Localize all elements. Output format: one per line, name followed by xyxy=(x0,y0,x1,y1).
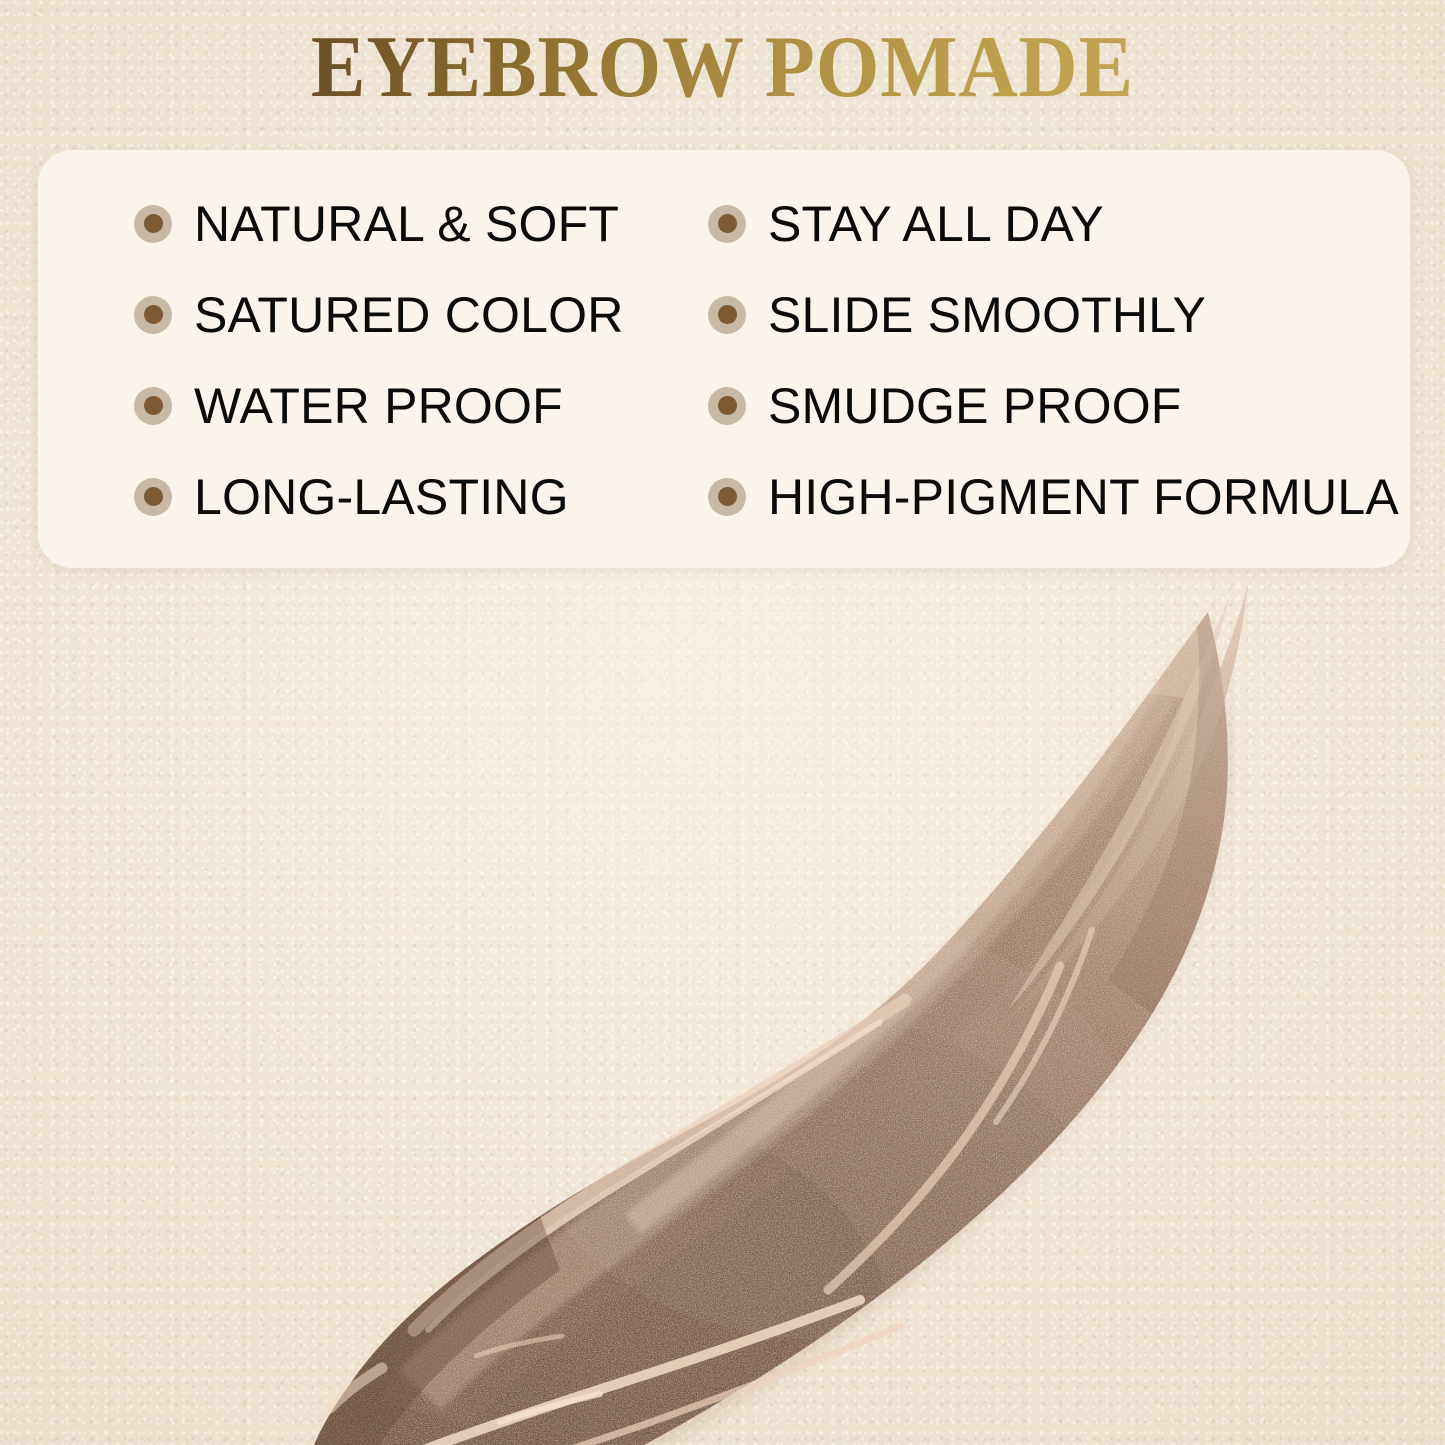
page-title: EYEBROW POMADE xyxy=(51,22,1395,114)
feature-label: NATURAL & SOFT xyxy=(194,199,619,249)
feature-grid: NATURAL & SOFT STAY ALL DAY SATURED COLO… xyxy=(38,150,1410,568)
feature-item-long-lasting: LONG-LASTING xyxy=(38,451,698,542)
bullet-dot-icon xyxy=(708,296,746,334)
feature-item-satured-color: SATURED COLOR xyxy=(38,269,698,360)
bullet-dot-icon xyxy=(708,387,746,425)
feature-card: NATURAL & SOFT STAY ALL DAY SATURED COLO… xyxy=(38,150,1410,568)
bullet-dot-icon xyxy=(134,387,172,425)
feature-label: HIGH-PIGMENT FORMULA xyxy=(768,472,1399,522)
swatch-body xyxy=(0,570,1445,1445)
feature-label: SATURED COLOR xyxy=(194,290,624,340)
feature-item-stay-all-day: STAY ALL DAY xyxy=(698,178,1410,269)
feature-item-water-proof: WATER PROOF xyxy=(38,360,698,451)
feature-item-high-pigment-formula: HIGH-PIGMENT FORMULA xyxy=(698,451,1410,542)
feature-label: LONG-LASTING xyxy=(194,472,569,522)
feature-label: STAY ALL DAY xyxy=(768,199,1104,249)
feature-label: WATER PROOF xyxy=(194,381,563,431)
feature-item-slide-smoothly: SLIDE SMOOTHLY xyxy=(698,269,1410,360)
bullet-dot-icon xyxy=(134,205,172,243)
bullet-dot-icon xyxy=(708,205,746,243)
bullet-dot-icon xyxy=(708,478,746,516)
feature-label: SMUDGE PROOF xyxy=(768,381,1182,431)
feature-label: SLIDE SMOOTHLY xyxy=(768,290,1206,340)
pomade-swatch-region xyxy=(0,570,1445,1445)
pomade-smear-swatch xyxy=(0,570,1445,1445)
bullet-dot-icon xyxy=(134,296,172,334)
product-infographic-poster: EYEBROW POMADE NATURAL & SOFT STAY ALL D… xyxy=(0,0,1445,1445)
feature-item-natural-soft: NATURAL & SOFT xyxy=(38,178,698,269)
feature-item-smudge-proof: SMUDGE PROOF xyxy=(698,360,1410,451)
bullet-dot-icon xyxy=(134,478,172,516)
